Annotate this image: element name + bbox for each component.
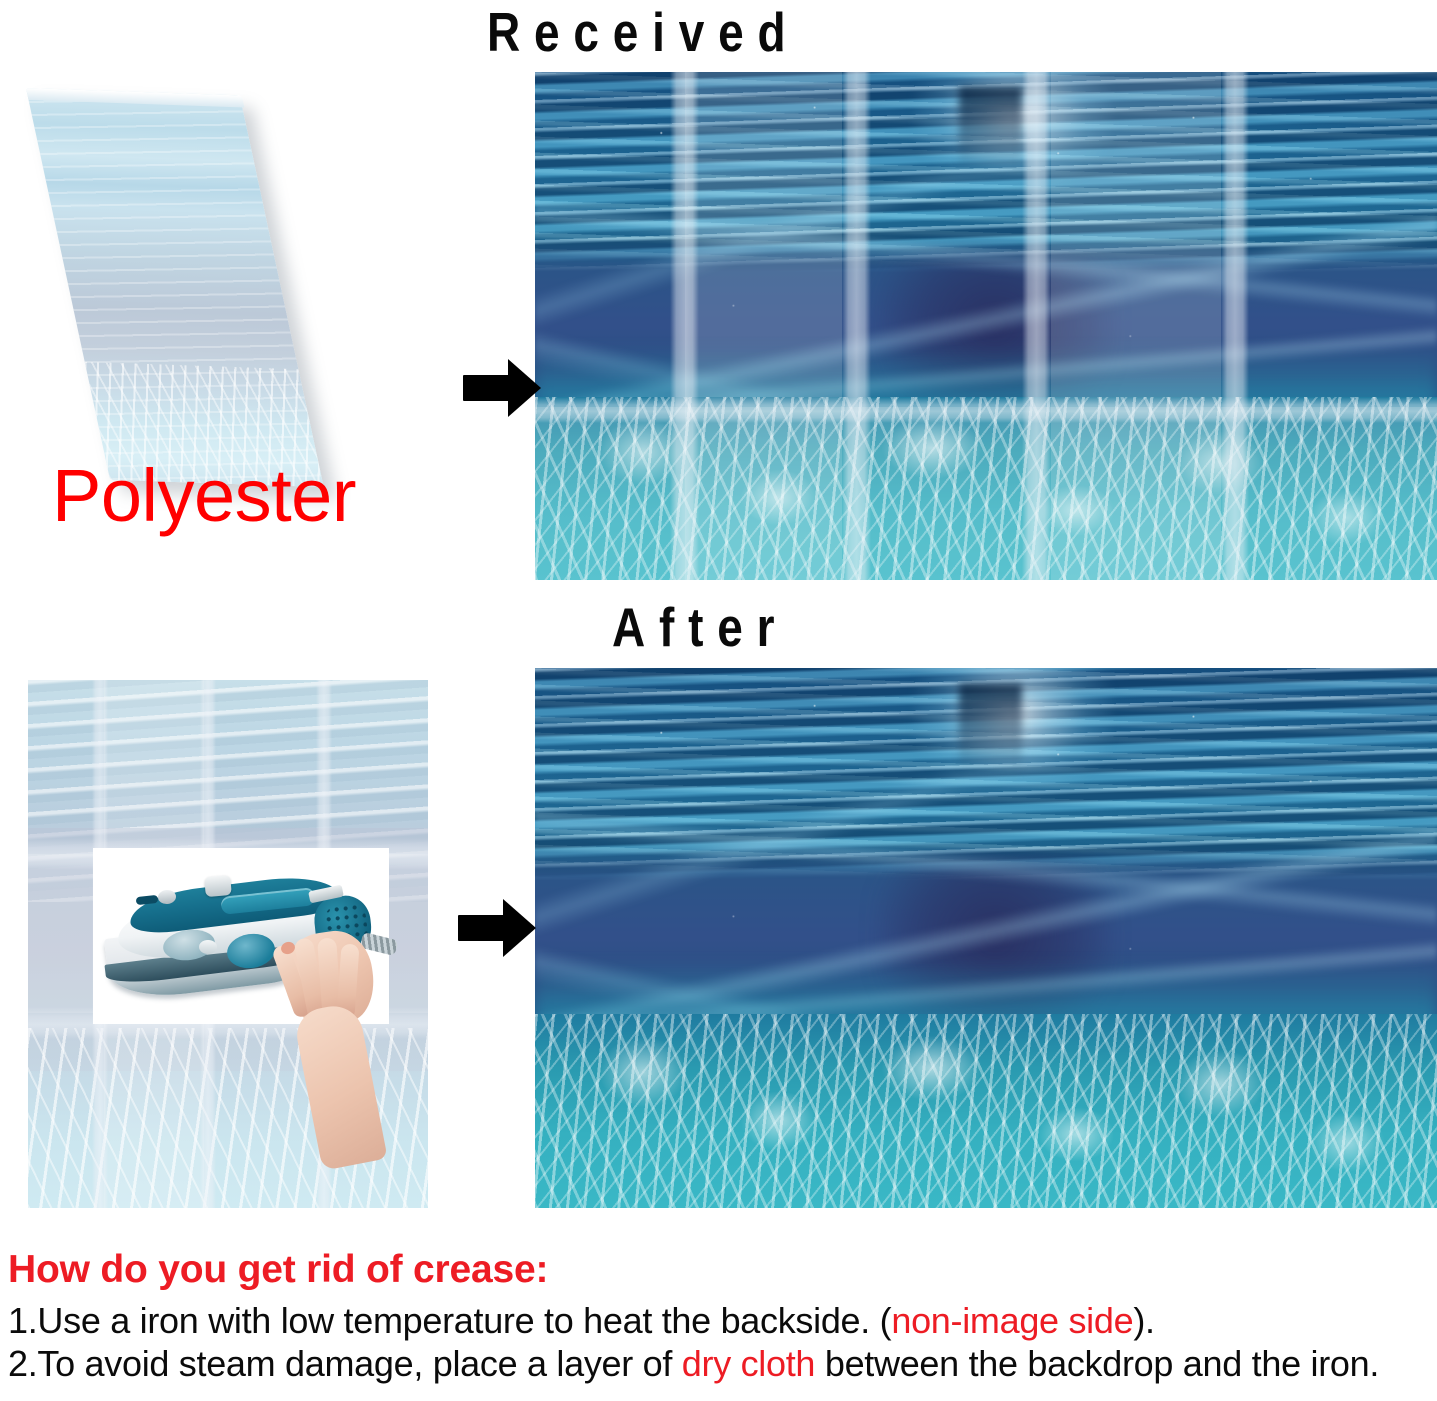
care-step-1-highlight: non-image side	[891, 1300, 1133, 1341]
folded-polyester-swatch	[18, 88, 366, 488]
care-step-2: 2.To avoid steam damage, place a layer o…	[8, 1343, 1433, 1384]
care-step-1-text-after: ).	[1133, 1300, 1154, 1341]
arrow-head	[503, 899, 536, 957]
photo-received-creased	[535, 72, 1437, 580]
section-title-after: After	[612, 600, 788, 654]
care-step-1: 1.Use a iron with low temperature to hea…	[8, 1300, 1433, 1341]
right-arrow-icon	[458, 898, 538, 958]
water-particles	[535, 668, 1437, 1208]
arrow-shaft	[458, 915, 508, 941]
care-step-2-text-after: between the backdrop and the iron.	[815, 1343, 1379, 1384]
infographic-canvas: Received Polyester After	[0, 0, 1437, 1401]
care-step-2-text-before: 2.To avoid steam damage, place a layer o…	[8, 1343, 682, 1384]
water-particles	[535, 72, 1437, 580]
section-title-received: Received	[487, 5, 799, 59]
care-step-1-text-before: 1.Use a iron with low temperature to hea…	[8, 1300, 891, 1341]
right-arrow-icon	[463, 358, 541, 418]
polyester-label: Polyester	[52, 459, 356, 533]
care-heading: How do you get rid of crease:	[8, 1248, 1433, 1292]
photo-after-smooth	[535, 668, 1437, 1208]
care-instructions-block: How do you get rid of crease: 1.Use a ir…	[8, 1248, 1433, 1386]
iron-steam-knob	[204, 875, 232, 897]
arrow-head	[508, 359, 541, 417]
hand-wrist	[292, 1001, 387, 1171]
care-step-2-highlight: dry cloth	[682, 1343, 815, 1384]
arrow-shaft	[463, 375, 513, 401]
fabric-sheet	[26, 88, 324, 487]
steam-iron-photo-tile	[93, 848, 389, 1024]
hand-icon	[263, 932, 413, 1162]
iron-spray-button	[199, 940, 217, 954]
